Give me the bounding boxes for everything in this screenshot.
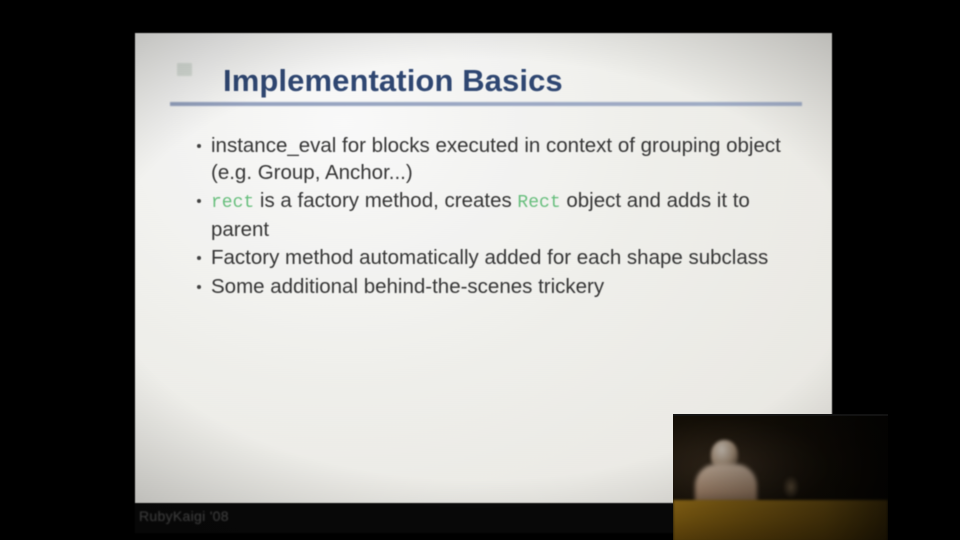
- bullet-list: instance_eval for blocks executed in con…: [193, 133, 803, 302]
- list-item: Some additional behind-the-scenes tricke…: [193, 274, 803, 301]
- speaker-camera-inset: [673, 414, 888, 540]
- page-title: Implementation Basics: [223, 63, 563, 99]
- bullet-text: instance_eval for blocks executed in con…: [211, 134, 781, 184]
- video-player-frame: Implementation Basics instance_eval for …: [0, 0, 960, 540]
- bullet-dot-icon: [197, 256, 201, 260]
- code-token: Rect: [517, 193, 560, 213]
- list-item: rect is a factory method, creates Rect o…: [193, 188, 803, 243]
- bullet-dot-icon: [197, 144, 201, 148]
- code-token: rect: [211, 193, 254, 213]
- list-item: instance_eval for blocks executed in con…: [193, 133, 803, 186]
- bullet-dot-icon: [197, 199, 201, 203]
- footer-label: RubyKaigi '08: [139, 508, 229, 524]
- list-item: Factory method automatically added for e…: [193, 245, 803, 272]
- pip-desk-surface: [673, 500, 888, 540]
- bullet-text: Factory method automatically added for e…: [211, 246, 768, 269]
- title-divider: [170, 102, 802, 106]
- bullet-dot-icon: [197, 285, 201, 289]
- bullet-text: Some additional behind-the-scenes tricke…: [211, 275, 604, 298]
- pip-light-highlight: [783, 476, 799, 498]
- square-marker-icon: [177, 63, 192, 76]
- bullet-text: is a factory method, creates: [254, 189, 517, 212]
